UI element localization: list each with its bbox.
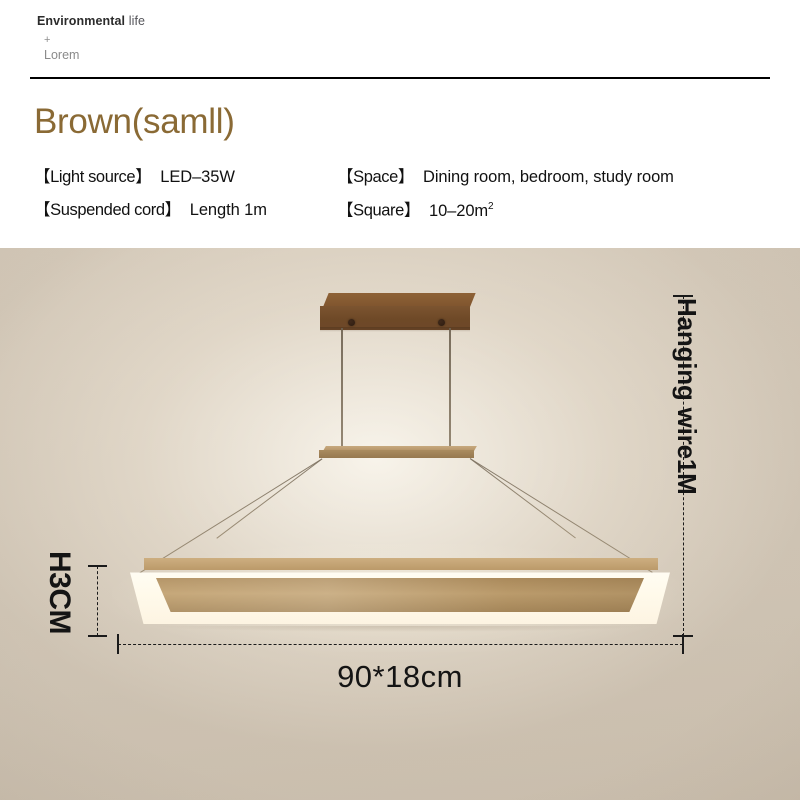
suspension-cord-right — [449, 328, 451, 450]
height-cap-top — [88, 565, 107, 567]
width-dimension-line — [118, 644, 683, 645]
suspension-cord-left — [341, 328, 343, 450]
ceiling-plate-shadow — [320, 327, 470, 332]
tension-wire-right-outer — [470, 458, 653, 573]
brand-name-light: life — [125, 14, 145, 28]
tension-wire-left-inner — [216, 458, 322, 539]
spec-suspended-cord: 【Suspended cord】Length 1m — [34, 202, 267, 219]
spec-space: 【Space】Dining room, bedroom, study room — [337, 169, 674, 186]
hanging-wire-cap-top — [673, 295, 693, 297]
spec-label: 【Square】 — [337, 202, 420, 220]
spec-light-source: 【Light source】LED–35W — [34, 169, 235, 186]
spec-header: Environmental life + Lorem Brown(samll) … — [0, 0, 800, 248]
spec-value: 10–20m — [429, 202, 488, 220]
brand-logo: Environmental life — [37, 14, 145, 28]
height-label: H3CM — [44, 551, 74, 634]
spec-label: 【Light source】 — [34, 168, 151, 186]
page-title: Brown(samll) — [34, 101, 235, 143]
led-rectangular-frame — [130, 558, 670, 638]
brand-subtitle: Lorem — [44, 49, 79, 62]
spec-value: Length 1m — [190, 201, 267, 219]
spec-square: 【Square】10–20m2 — [337, 202, 494, 219]
ceiling-plate-top-face — [323, 293, 476, 307]
width-cap-left — [117, 634, 119, 654]
brand-name-strong: Environmental — [37, 14, 125, 28]
spec-value: Dining room, bedroom, study room — [423, 168, 674, 186]
frame-drop-shadow — [154, 626, 648, 636]
mounting-screw-right — [438, 319, 445, 326]
height-dimension-line — [97, 566, 98, 636]
spec-label: 【Suspended cord】 — [34, 201, 181, 219]
product-spec-image: Environmental life + Lorem Brown(samll) … — [0, 0, 800, 800]
frame-top-edge — [144, 558, 658, 570]
header-divider — [30, 77, 770, 79]
product-photo: Hanging wire1M H3CM 90*18cm — [0, 248, 800, 800]
ceiling-mount-plate — [320, 293, 470, 333]
crossbar-front-face — [319, 450, 474, 458]
suspension-crossbar — [319, 446, 474, 458]
hanging-wire-label: Hanging wire1M — [674, 298, 700, 634]
width-cap-right — [682, 634, 684, 654]
mounting-screw-left — [348, 319, 355, 326]
width-label: 90*18cm — [0, 661, 800, 692]
spec-value-superscript: 2 — [488, 201, 493, 212]
spec-label: 【Space】 — [337, 168, 414, 186]
height-cap-bottom — [88, 635, 107, 637]
spec-value: LED–35W — [160, 168, 235, 186]
plus-icon: + — [44, 35, 50, 46]
frame-inner-shading — [156, 578, 644, 612]
tension-wire-left-outer — [139, 458, 322, 573]
tension-wire-right-inner — [470, 458, 576, 539]
